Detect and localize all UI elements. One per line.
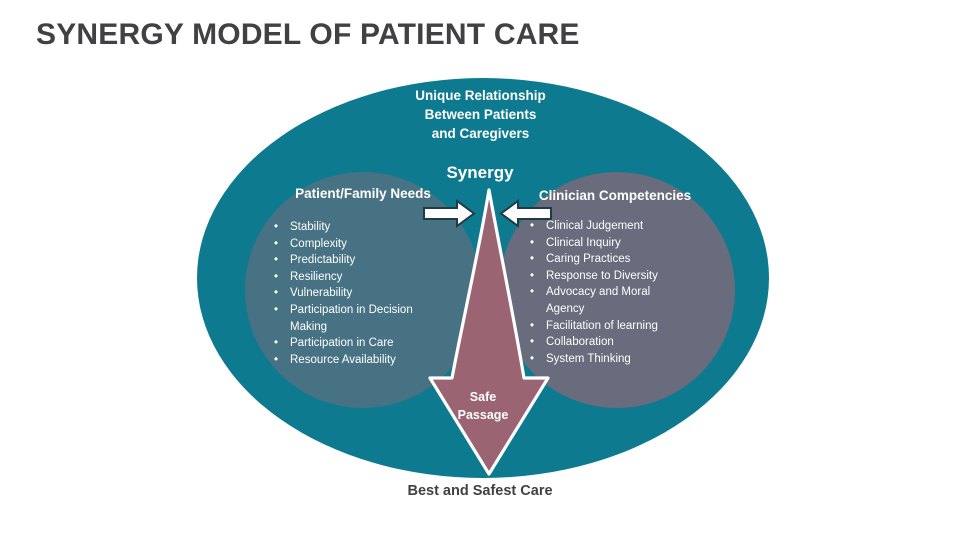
- list-item-label: Caring Practices: [546, 253, 630, 265]
- safe-passage-line-2: Passage: [440, 406, 526, 424]
- bullet-icon: •: [274, 219, 278, 236]
- list-item-label: System Thinking: [546, 353, 631, 365]
- bullet-icon: •: [530, 284, 534, 301]
- bottom-outcome-label: Best and Safest Care: [330, 483, 630, 499]
- list-item-label: Facilitation of learning: [546, 320, 658, 332]
- list-item: •Participation in Care: [268, 335, 463, 352]
- synergy-label: Synergy: [415, 163, 545, 183]
- safe-passage-line-1: Safe: [440, 388, 526, 406]
- safe-passage-label: Safe Passage: [440, 388, 526, 424]
- list-item: •Facilitation of learning: [524, 318, 724, 335]
- list-item: •Participation in Decision: [268, 302, 463, 319]
- list-item: •Caring Practices: [524, 251, 724, 268]
- list-item-continuation: Agency: [524, 301, 724, 318]
- right-panel-list: •Clinical Judgement •Clinical Inquiry •C…: [524, 218, 724, 367]
- bullet-icon: •: [274, 335, 278, 352]
- list-item: •Stability: [268, 219, 463, 236]
- unique-relationship-line-3: and Caregivers: [378, 124, 583, 143]
- list-item: •Clinical Judgement: [524, 218, 724, 235]
- list-item-label: Resource Availability: [290, 354, 396, 366]
- slide-canvas: SYNERGY MODEL OF PATIENT CARE Unique Rel…: [0, 0, 960, 540]
- right-panel-title: Clinician Competencies: [510, 188, 720, 203]
- list-item-label: Predictability: [290, 254, 355, 266]
- list-item: •Predictability: [268, 252, 463, 269]
- list-item: •Collaboration: [524, 334, 724, 351]
- list-item: •Complexity: [268, 236, 463, 253]
- list-item-label: Resiliency: [290, 271, 342, 283]
- list-item: •System Thinking: [524, 351, 724, 368]
- list-item-label: Complexity: [290, 238, 347, 250]
- list-item: •Resource Availability: [268, 352, 463, 369]
- list-item-label: Response to Diversity: [546, 270, 658, 282]
- bullet-icon: •: [274, 236, 278, 253]
- bullet-icon: •: [530, 235, 534, 252]
- bullet-icon: •: [274, 269, 278, 286]
- bullet-icon: •: [274, 302, 278, 319]
- unique-relationship-label: Unique Relationship Between Patients and…: [378, 86, 583, 143]
- bullet-icon: •: [274, 285, 278, 302]
- list-item-label: Participation in Care: [290, 337, 394, 349]
- list-item-label: Vulnerability: [290, 287, 352, 299]
- left-panel-title: Patient/Family Needs: [258, 186, 468, 201]
- list-item-label: Stability: [290, 221, 330, 233]
- list-item-label: Advocacy and Moral: [546, 286, 650, 298]
- list-item: •Advocacy and Moral: [524, 284, 724, 301]
- list-item: •Vulnerability: [268, 285, 463, 302]
- list-item-label: Clinical Inquiry: [546, 237, 621, 249]
- bullet-icon: •: [530, 318, 534, 335]
- unique-relationship-line-2: Between Patients: [378, 105, 583, 124]
- bullet-icon: •: [530, 218, 534, 235]
- list-item-label: Participation in Decision: [290, 304, 413, 316]
- bullet-icon: •: [274, 352, 278, 369]
- bullet-icon: •: [530, 334, 534, 351]
- bullet-icon: •: [274, 252, 278, 269]
- list-item: •Clinical Inquiry: [524, 235, 724, 252]
- bullet-icon: •: [530, 251, 534, 268]
- list-item-label: Agency: [546, 303, 584, 315]
- list-item-label: Collaboration: [546, 336, 614, 348]
- list-item: •Response to Diversity: [524, 268, 724, 285]
- bullet-icon: •: [530, 351, 534, 368]
- synergy-diagram: [0, 0, 960, 540]
- list-item-label: Clinical Judgement: [546, 220, 643, 232]
- bullet-icon: •: [530, 268, 534, 285]
- list-item-continuation: Making: [268, 319, 463, 336]
- unique-relationship-line-1: Unique Relationship: [378, 86, 583, 105]
- list-item: •Resiliency: [268, 269, 463, 286]
- list-item-label: Making: [290, 321, 327, 333]
- left-panel-list: •Stability •Complexity •Predictability •…: [268, 219, 463, 368]
